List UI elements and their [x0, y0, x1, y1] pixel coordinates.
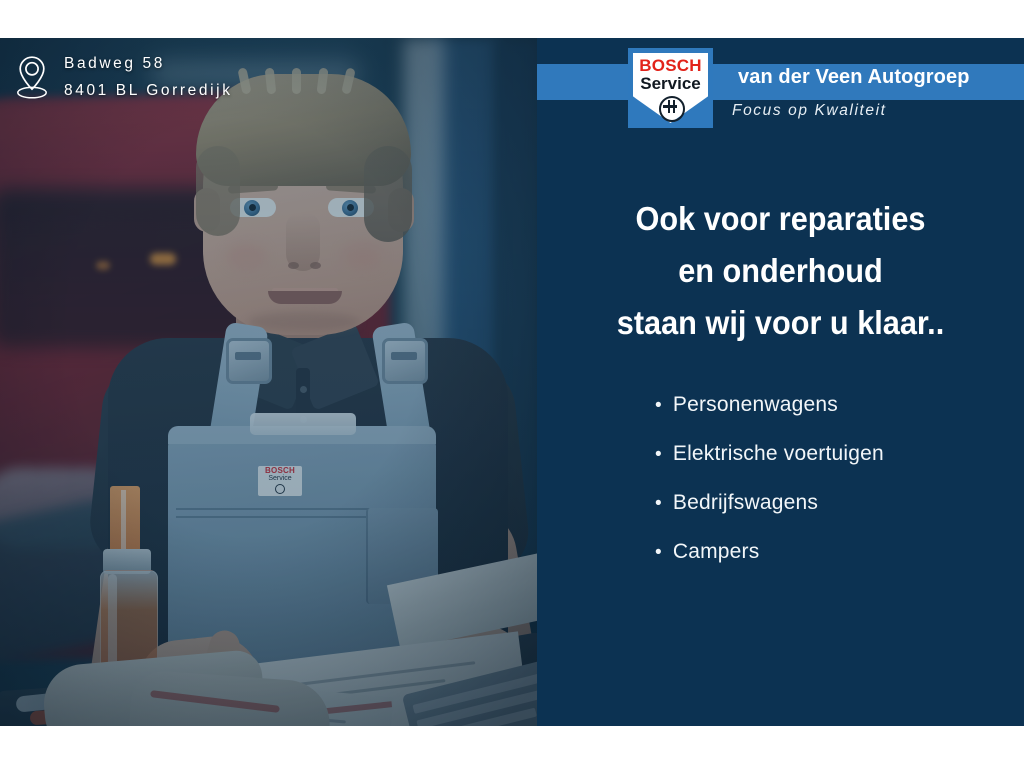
- list-item: • Elektrische voertuigen: [655, 442, 1024, 491]
- banner-content: BOSCHService: [0, 38, 1024, 726]
- list-item-label: Elektrische voertuigen: [673, 442, 884, 466]
- address-line-1: Badweg 58: [64, 50, 233, 77]
- bullet-icon: •: [655, 494, 662, 513]
- bosch-armature-icon: [659, 96, 685, 122]
- bullet-icon: •: [655, 396, 662, 415]
- list-item-label: Personenwagens: [673, 393, 838, 417]
- headline: Ook voor reparaties en onderhoud staan w…: [554, 193, 1007, 349]
- logo-service-text: Service: [628, 75, 713, 93]
- location-pin-icon: [14, 54, 50, 100]
- address-line-2: 8401 BL Gorredijk: [64, 77, 233, 104]
- list-item: • Campers: [655, 540, 1024, 589]
- services-list: • Personenwagens • Elektrische voertuige…: [655, 393, 1024, 589]
- company-tagline: Focus op Kwaliteit: [732, 102, 887, 120]
- list-item: • Personenwagens: [655, 393, 1024, 442]
- company-name: van der Veen Autogroep: [738, 66, 970, 89]
- bullet-icon: •: [655, 543, 662, 562]
- list-item-label: Bedrijfswagens: [673, 491, 818, 515]
- info-panel: BOSCH Service van der Veen Autogroep Foc…: [537, 38, 1024, 726]
- mechanic-photo: BOSCHService: [0, 38, 537, 726]
- headline-line-3: staan wij voor u klaar..: [554, 297, 1007, 349]
- headline-line-2: en onderhoud: [554, 245, 1007, 297]
- logo-bosch-text: BOSCH: [628, 57, 713, 75]
- list-item: • Bedrijfswagens: [655, 491, 1024, 540]
- address-block: Badweg 58 8401 BL Gorredijk: [14, 50, 233, 104]
- list-item-label: Campers: [673, 540, 760, 564]
- bullet-icon: •: [655, 445, 662, 464]
- bosch-service-logo: BOSCH Service: [628, 48, 713, 128]
- advertisement-banner: BOSCHService: [0, 0, 1024, 768]
- headline-line-1: Ook voor reparaties: [554, 193, 1007, 245]
